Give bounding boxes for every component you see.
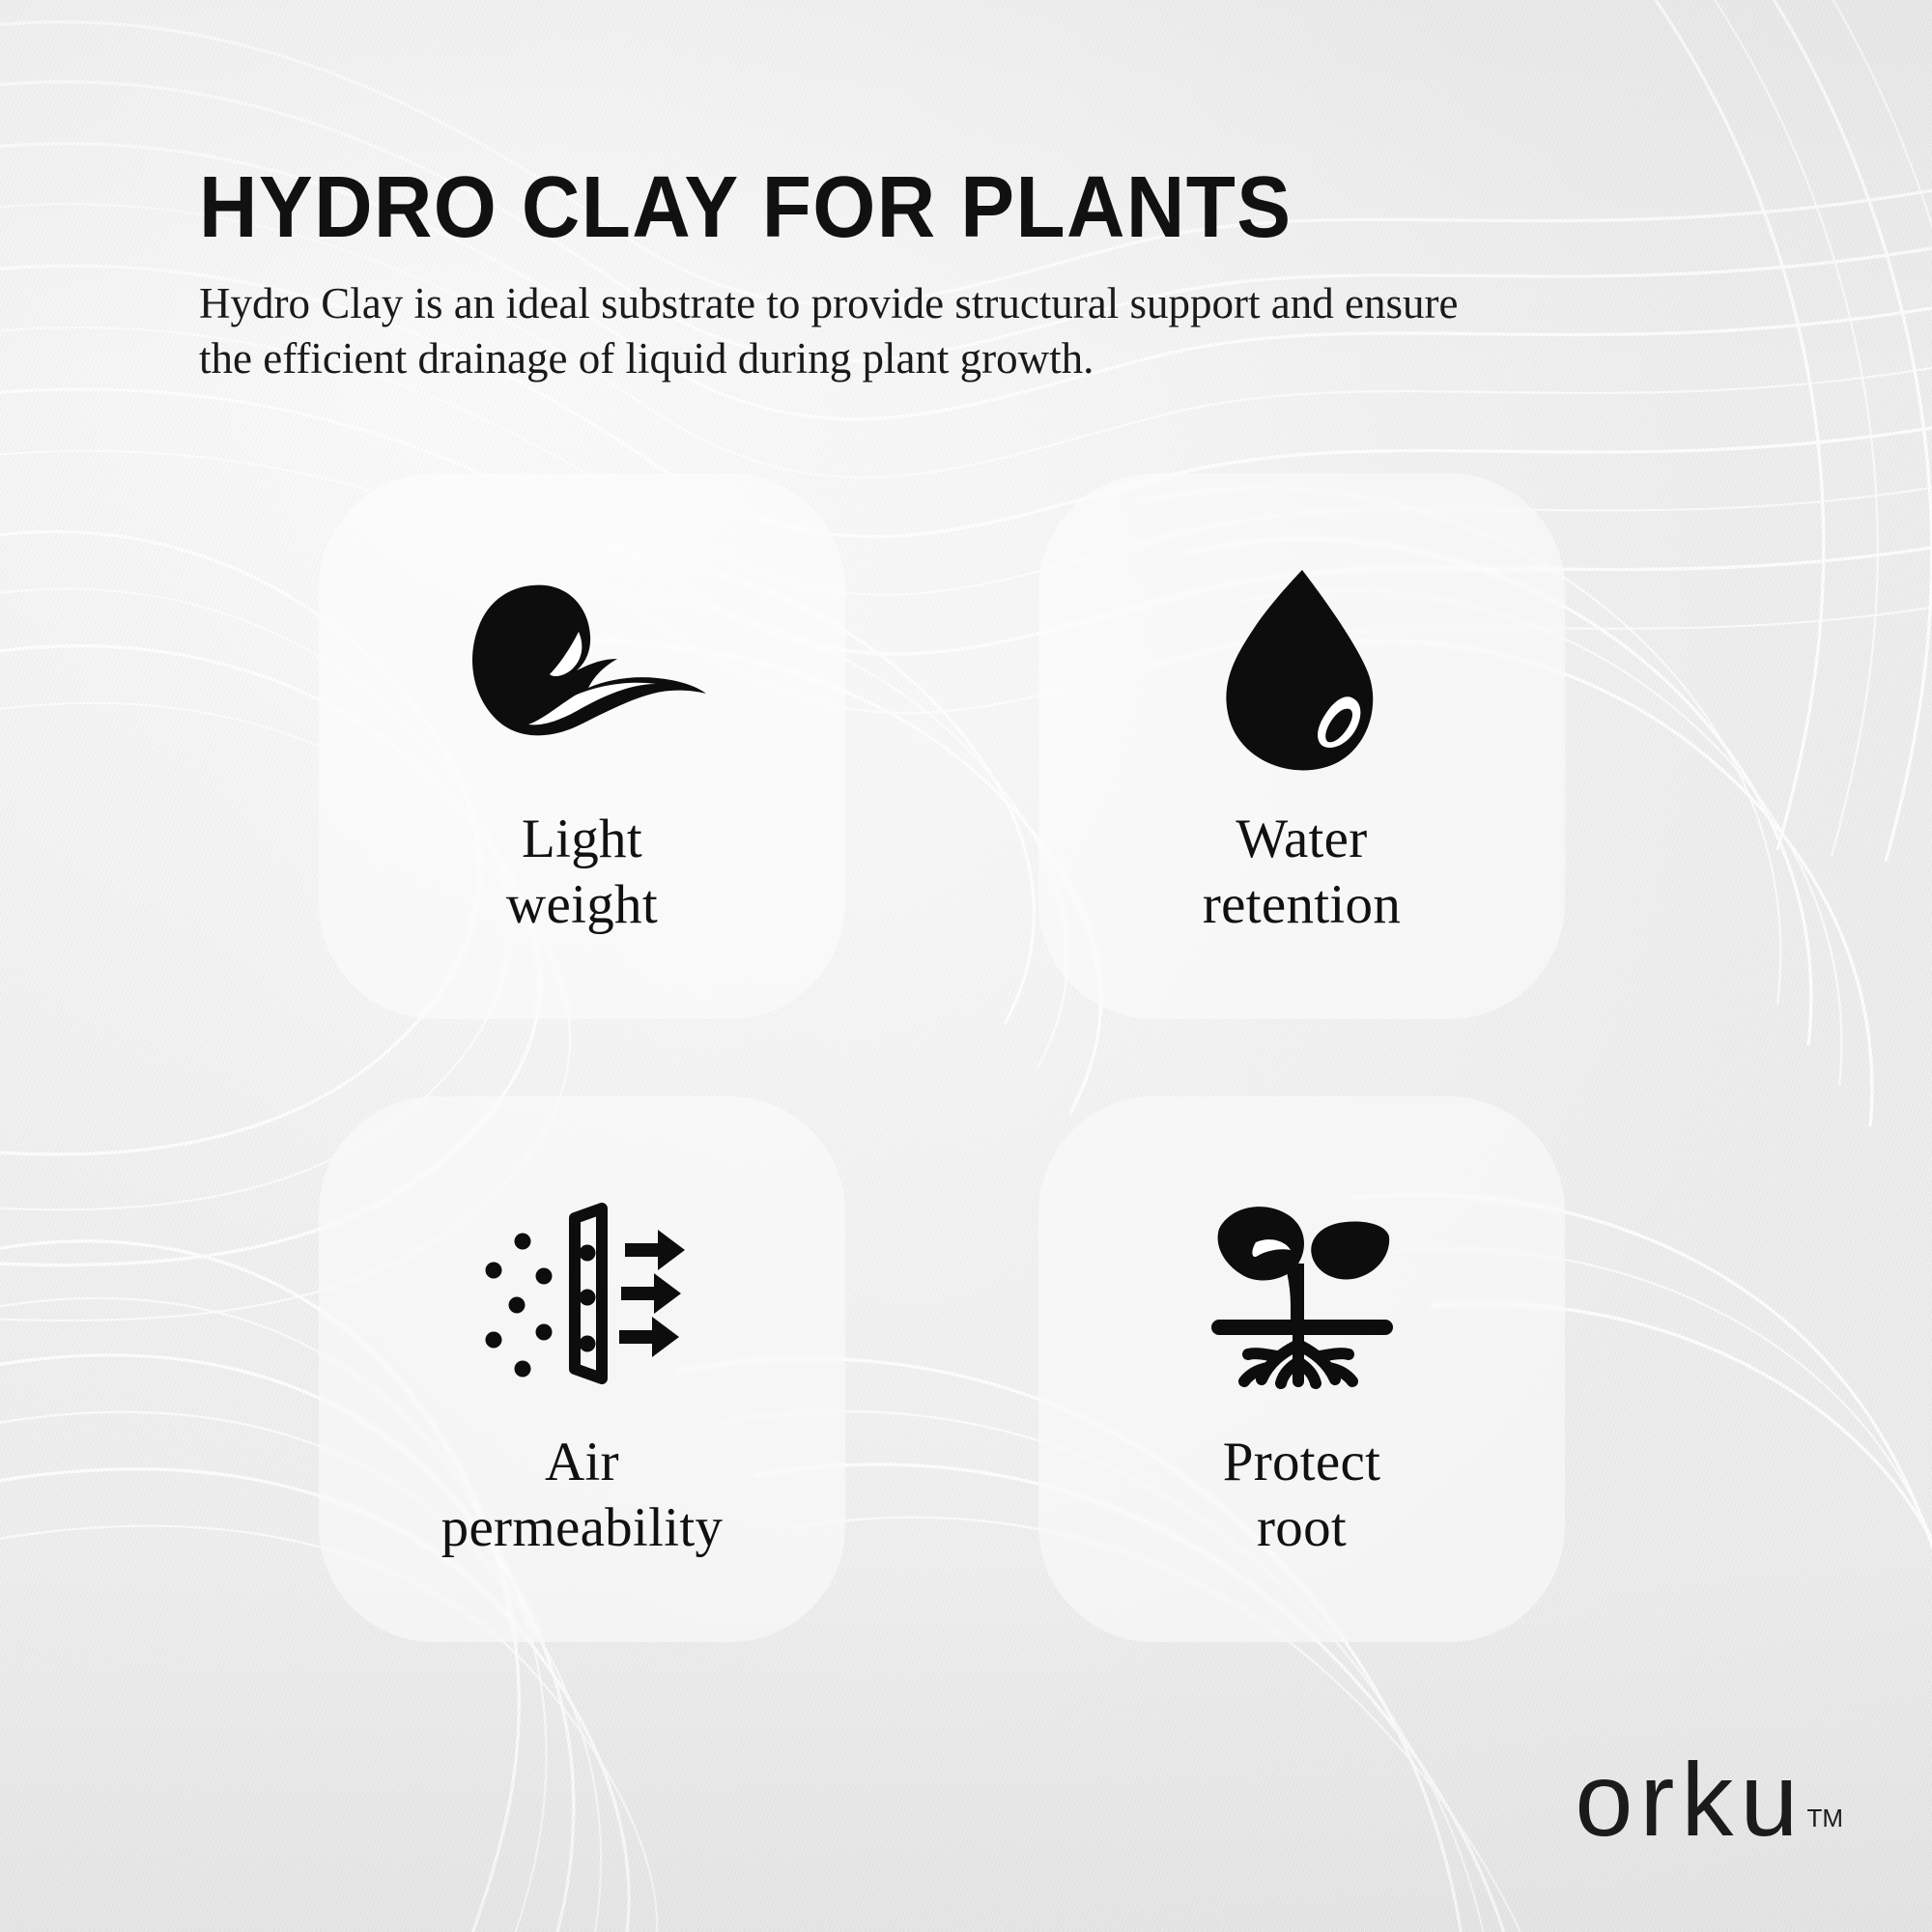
feature-label-line-2: weight: [506, 872, 658, 938]
brand-name: orku: [1575, 1757, 1804, 1843]
page-subtitle: Hydro Clay is an ideal substrate to prov…: [199, 276, 1745, 385]
roots: [1244, 1335, 1352, 1383]
feature-label-line-1: Water: [1203, 807, 1401, 872]
feature-card-air-permeability[interactable]: Air permeability: [319, 1096, 845, 1642]
membrane-pores: [580, 1244, 596, 1351]
brand-logo: orku TM: [1575, 1757, 1843, 1843]
feature-label-line-2: root: [1223, 1495, 1381, 1561]
feature-label-line-1: Light: [506, 807, 658, 872]
air-permeability-icon-svg: [478, 1197, 686, 1390]
feature-card-grid: Light weight Water retention: [319, 473, 1662, 1642]
airflow-arrows: [619, 1230, 685, 1357]
trademark-mark: TM: [1806, 1804, 1843, 1833]
water-drop-icon-svg: [1220, 566, 1384, 774]
feature-label-protect-root: Protect root: [1223, 1430, 1381, 1561]
particle-dots-left: [486, 1233, 553, 1377]
feature-label-line-1: Air: [441, 1430, 724, 1495]
feature-card-water-retention[interactable]: Water retention: [1038, 473, 1565, 1019]
feature-card-light-weight[interactable]: Light weight: [319, 473, 845, 1019]
seedling-root-icon: [1206, 1189, 1399, 1397]
feature-label-line-2: retention: [1203, 872, 1401, 938]
feature-label-line-1: Protect: [1223, 1430, 1381, 1495]
page-title: HYDRO CLAY FOR PLANTS: [199, 164, 1672, 251]
air-permeability-icon: [478, 1189, 686, 1397]
seedling-root-icon-svg: [1206, 1192, 1399, 1395]
feature-card-protect-root[interactable]: Protect root: [1038, 1096, 1565, 1642]
water-drop-icon: [1220, 566, 1384, 774]
subtitle-line-1: Hydro Clay is an ideal substrate to prov…: [199, 276, 1745, 331]
infographic-poster: HYDRO CLAY FOR PLANTS Hydro Clay is an i…: [0, 0, 1932, 1932]
subtitle-line-2: the efficient drainage of liquid during …: [199, 331, 1745, 386]
feather-icon-svg: [457, 574, 708, 767]
feature-label-line-2: permeability: [441, 1495, 724, 1561]
feather-icon: [457, 566, 708, 774]
feature-label-air-permeability: Air permeability: [441, 1430, 724, 1561]
feature-label-light-weight: Light weight: [506, 807, 658, 938]
header: HYDRO CLAY FOR PLANTS Hydro Clay is an i…: [199, 164, 1783, 385]
feature-label-water-retention: Water retention: [1203, 807, 1401, 938]
